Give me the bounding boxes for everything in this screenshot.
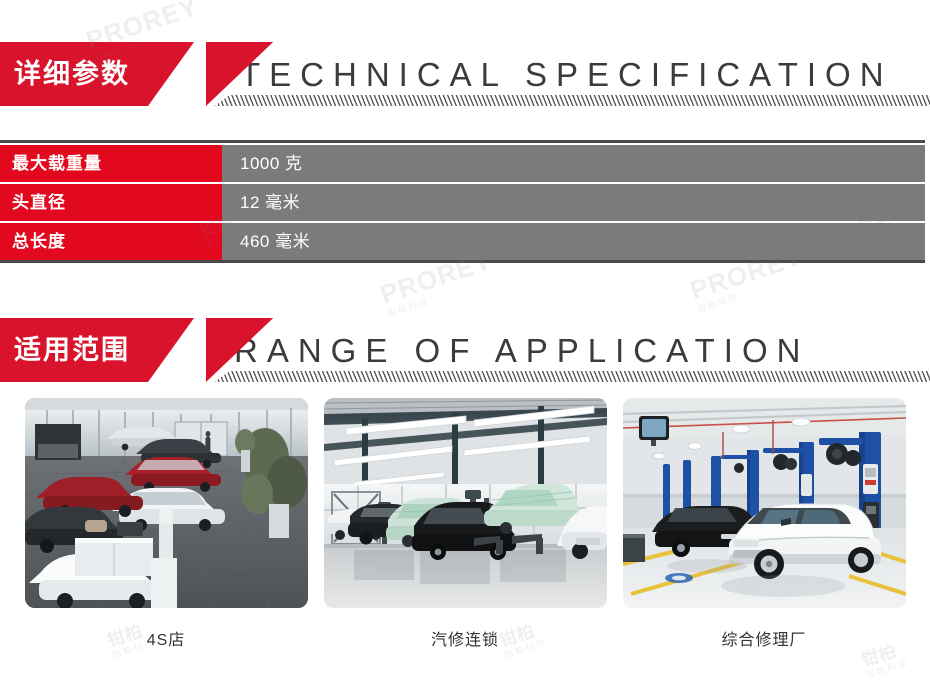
specification-table: 最大载重量 1000 克 头直径 12 毫米 总长度 460 毫米	[0, 140, 925, 263]
spec-label: 总长度	[0, 223, 222, 260]
spec-value: 460 毫米	[222, 223, 925, 260]
section-header-range-of-application: 适用范围 RANGE OF APPLICATION	[0, 318, 930, 382]
table-row: 总长度 460 毫米	[0, 223, 925, 260]
spec-label: 头直径	[0, 184, 222, 221]
photo-auto-repair-workshop	[324, 398, 607, 608]
product-detail-page: 详细参数 TECHNICAL SPECIFICATION 最大载重量 1000 …	[0, 0, 930, 690]
section-header-technical-specification: 详细参数 TECHNICAL SPECIFICATION	[0, 42, 930, 106]
spec-value: 12 毫米	[222, 184, 925, 221]
section-english-title-technical-specification: TECHNICAL SPECIFICATION	[240, 42, 893, 106]
spec-value: 1000 克	[222, 145, 925, 182]
spec-label: 最大载重量	[0, 145, 222, 182]
gallery-caption: 4S店	[25, 626, 308, 650]
gallery-caption: 汽修连锁	[324, 626, 607, 650]
photo-service-bay-with-lifts	[623, 398, 906, 608]
section-english-title-range-of-application: RANGE OF APPLICATION	[234, 318, 809, 382]
gallery-caption: 综合修理厂	[623, 626, 906, 650]
table-row: 头直径 12 毫米	[0, 184, 925, 221]
gallery-item: 汽修连锁	[324, 398, 607, 650]
section-tag-range-of-application: 适用范围	[0, 318, 194, 382]
photo-car-dealership-showroom	[25, 398, 308, 608]
gallery-item: 4S店	[25, 398, 308, 650]
section-tag-technical-specification: 详细参数	[0, 42, 194, 106]
table-row: 最大载重量 1000 克	[0, 145, 925, 182]
gallery-item: 综合修理厂	[623, 398, 906, 650]
application-gallery: 4S店	[0, 398, 930, 650]
